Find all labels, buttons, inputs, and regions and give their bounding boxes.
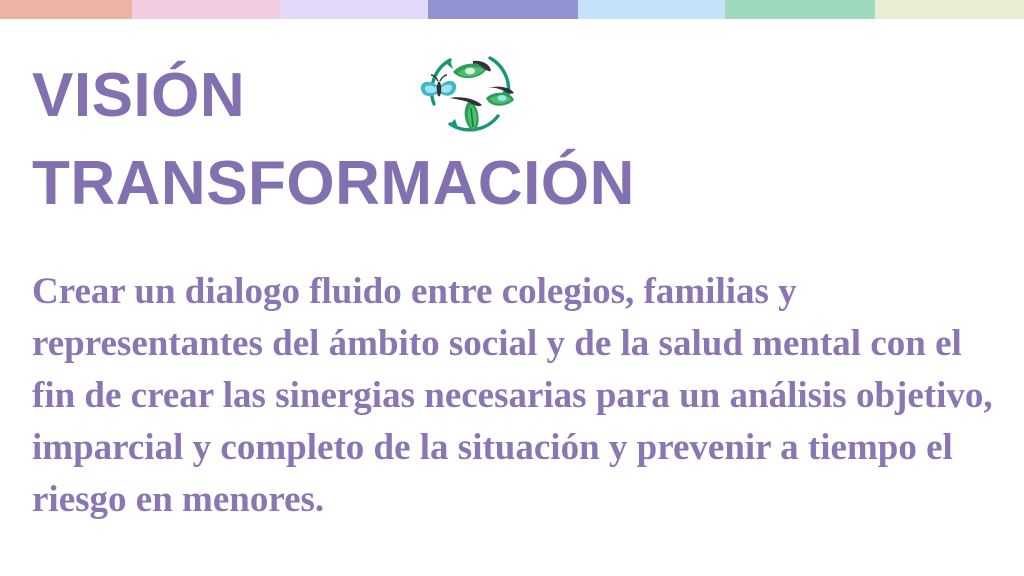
title-line-transformacion: TRANSFORMACIÓN [32, 140, 732, 228]
body-paragraph: Crear un dialogo fluido entre colegios, … [32, 266, 1007, 526]
page-title: VISIÓN TRANSFORMACIÓN [32, 52, 732, 228]
title-line-vision: VISIÓN [32, 52, 732, 140]
color-band-salmon [0, 0, 132, 19]
color-band-lavender [280, 0, 428, 19]
top-color-bar [0, 0, 1024, 19]
butterfly [421, 75, 456, 97]
leaf-right [486, 87, 514, 106]
color-band-mint [725, 0, 875, 19]
slide-canvas: VISIÓN TRANSFORMACIÓN [0, 0, 1024, 576]
life-cycle-transformation-icon [414, 38, 526, 142]
color-band-pink [132, 0, 280, 19]
color-band-pale-lime [875, 0, 1024, 19]
color-band-periwinkle [428, 0, 578, 19]
color-band-light-blue [578, 0, 725, 19]
leaf-top [453, 61, 491, 78]
